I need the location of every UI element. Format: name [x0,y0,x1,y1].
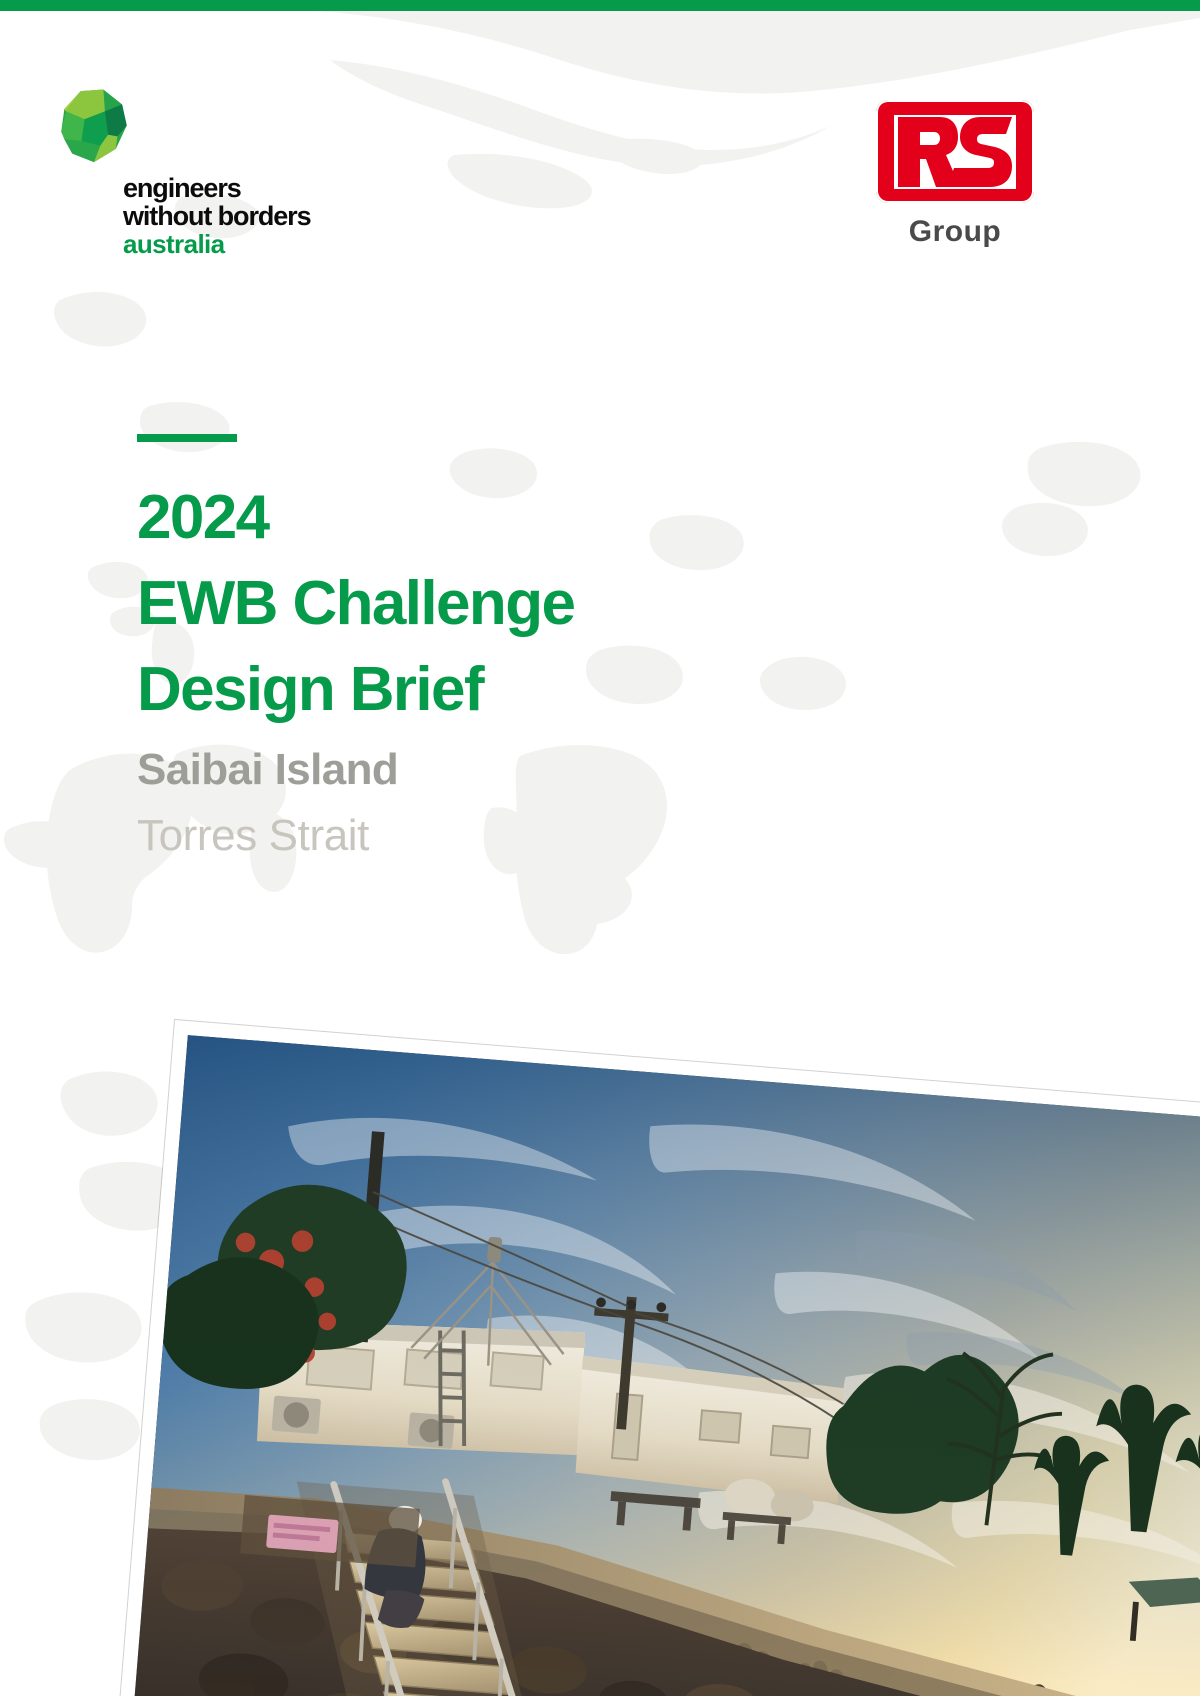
top-accent-bar [0,0,1200,11]
rs-logo-box [876,100,1034,203]
subtitle-location: Saibai Island [137,739,897,801]
ewb-line-1: engineers [123,174,395,202]
ewb-globe-icon [55,88,133,166]
subtitle-region: Torres Strait [137,805,897,867]
cover-title-block: 2024 EWB Challenge Design Brief Saibai I… [137,434,897,867]
rs-group-label: Group [870,215,1040,249]
ewb-australia-logo: engineers without borders australia [55,88,395,258]
ewb-line-2: without borders [123,202,395,230]
rs-monogram-icon [894,115,1016,189]
cover-photo-frame [114,1020,1200,1696]
cover-page: engineers without borders australia Grou… [0,0,1200,1696]
title-line-1: EWB Challenge [137,561,897,647]
title-line-2: Design Brief [137,647,897,733]
saibai-island-seawall-photo [129,1035,1200,1696]
ewb-wordmark: engineers without borders australia [123,174,395,258]
rs-group-logo: Group [870,100,1040,249]
ewb-line-3: australia [123,230,395,258]
title-divider-rule [137,434,237,442]
title-year: 2024 [137,475,897,561]
